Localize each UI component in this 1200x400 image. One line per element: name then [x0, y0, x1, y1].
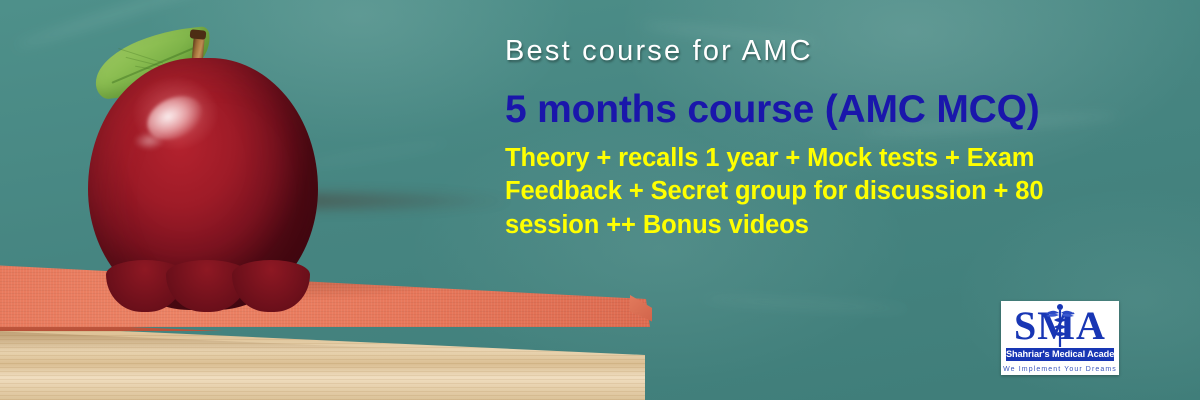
caduceus-icon: [1037, 302, 1083, 350]
apple-image: [72, 28, 332, 310]
banner-eyebrow: Best course for AMC: [505, 36, 1125, 68]
apple-body: [88, 58, 318, 310]
banner-headline: 5 months course (AMC MCQ): [505, 88, 1125, 132]
brand-logo[interactable]: SMA Shahriar's Medical Academy We Implem…: [1001, 301, 1119, 375]
apple-lobe: [232, 260, 310, 312]
apple-highlight: [134, 132, 164, 150]
banner-copy: Best course for AMC 5 months course (AMC…: [505, 36, 1125, 243]
promo-banner: Best course for AMC 5 months course (AMC…: [0, 0, 1200, 400]
chalk-smudge: [700, 295, 910, 314]
logo-inner: SMA Shahriar's Medical Academy We Implem…: [1001, 301, 1119, 375]
banner-subcopy: Theory + recalls 1 year + Mock tests + E…: [505, 142, 1120, 244]
logo-tagline: We Implement Your Dreams: [1001, 366, 1119, 373]
logo-name: Shahriar's Medical Academy: [1006, 348, 1114, 361]
apple-stem-tip: [190, 29, 207, 40]
